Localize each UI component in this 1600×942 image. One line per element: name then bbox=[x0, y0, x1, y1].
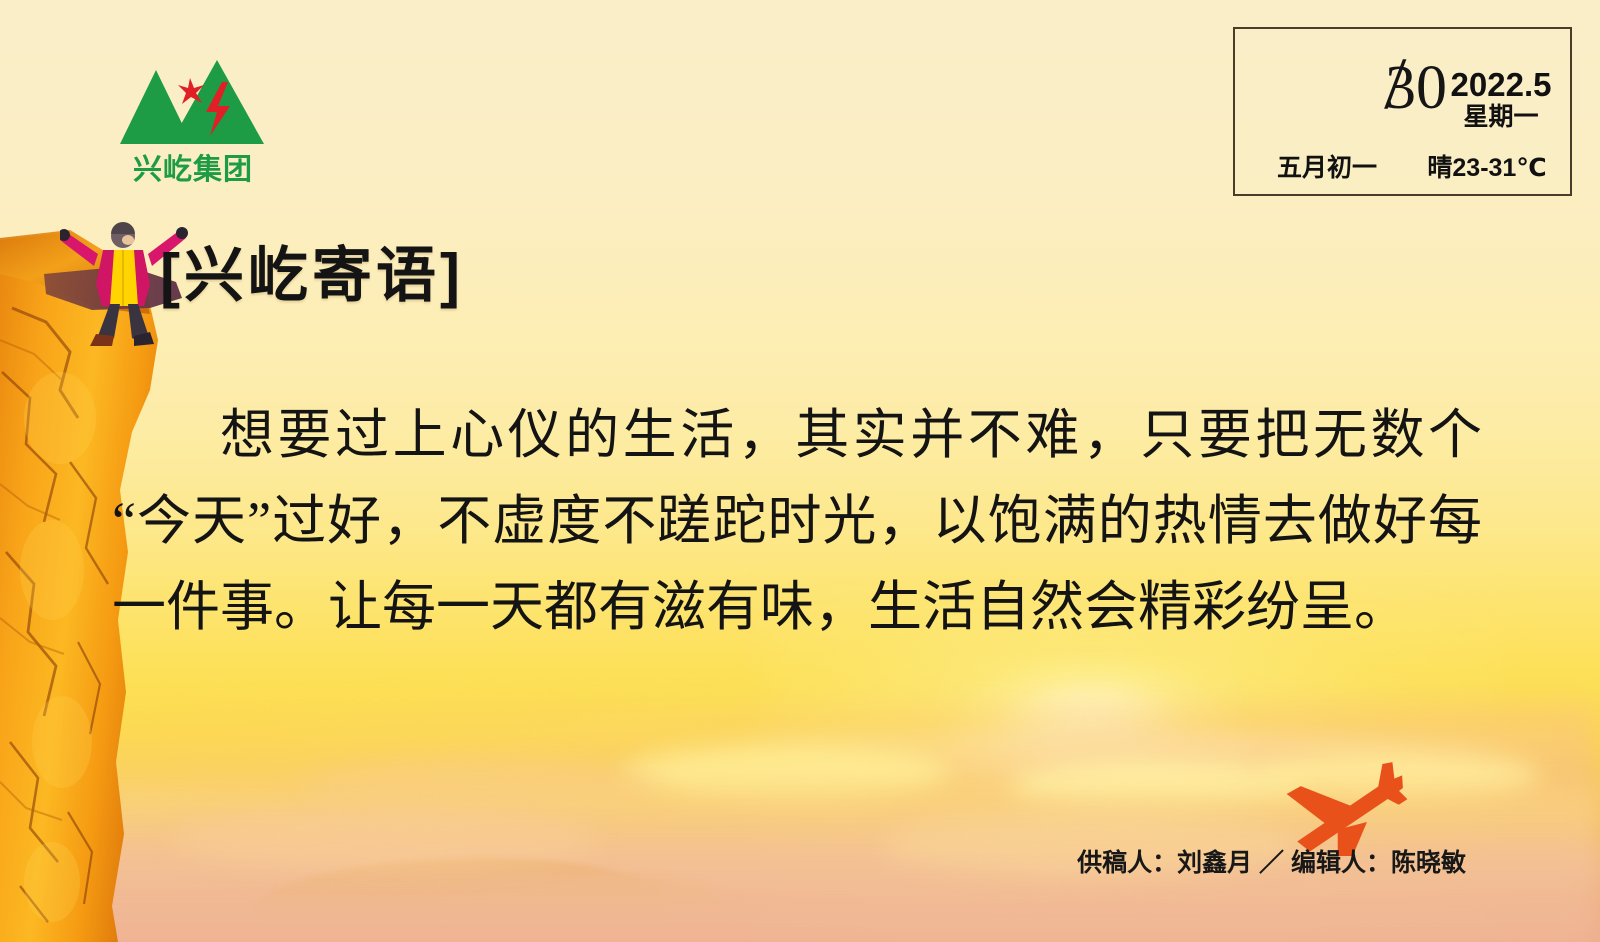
cloud-puff bbox=[1260, 752, 1540, 802]
cloud-band-lower bbox=[0, 830, 1600, 942]
distant-ridge bbox=[250, 858, 670, 922]
poster-canvas: 兴屹集团 30 / 2022.5 星期一 五月初一 晴23-31℃ [兴屹寄语]… bbox=[0, 0, 1600, 942]
date-card: 30 / 2022.5 星期一 五月初一 晴23-31℃ bbox=[1233, 27, 1572, 196]
date-slash: / bbox=[1384, 47, 1407, 121]
airplane-icon bbox=[1278, 758, 1418, 856]
page-title: [兴屹寄语] bbox=[160, 243, 464, 309]
cloud-band-upper bbox=[0, 700, 1600, 820]
date-lunar: 五月初一 bbox=[1247, 154, 1407, 182]
logo-company-name: 兴屹集团 bbox=[118, 146, 268, 188]
cloud-puff bbox=[1010, 762, 1310, 816]
cloud-puff bbox=[620, 745, 950, 803]
cloud-puff bbox=[170, 808, 600, 870]
logo-mountain-icon bbox=[118, 52, 268, 152]
date-weekday: 星期一 bbox=[1431, 103, 1571, 131]
distant-ridge bbox=[430, 875, 730, 921]
sun-light-streak bbox=[700, 735, 1600, 779]
company-logo: 兴屹集团 bbox=[118, 52, 268, 177]
sun-core bbox=[940, 655, 1240, 835]
date-year-month: 2022.5 bbox=[1431, 67, 1571, 103]
message-paragraph: 想要过上心仪的生活，其实并不难，只要把无数个“今天”过好，不虚度不蹉跎时光，以饱… bbox=[112, 392, 1482, 650]
date-weather: 晴23-31℃ bbox=[1403, 154, 1571, 182]
date-day-number: 30 bbox=[1257, 57, 1447, 119]
cloud-puff bbox=[300, 760, 660, 814]
credits-line: 供稿人：刘鑫月 ／ 编辑人：陈晓敏 bbox=[1040, 848, 1480, 878]
